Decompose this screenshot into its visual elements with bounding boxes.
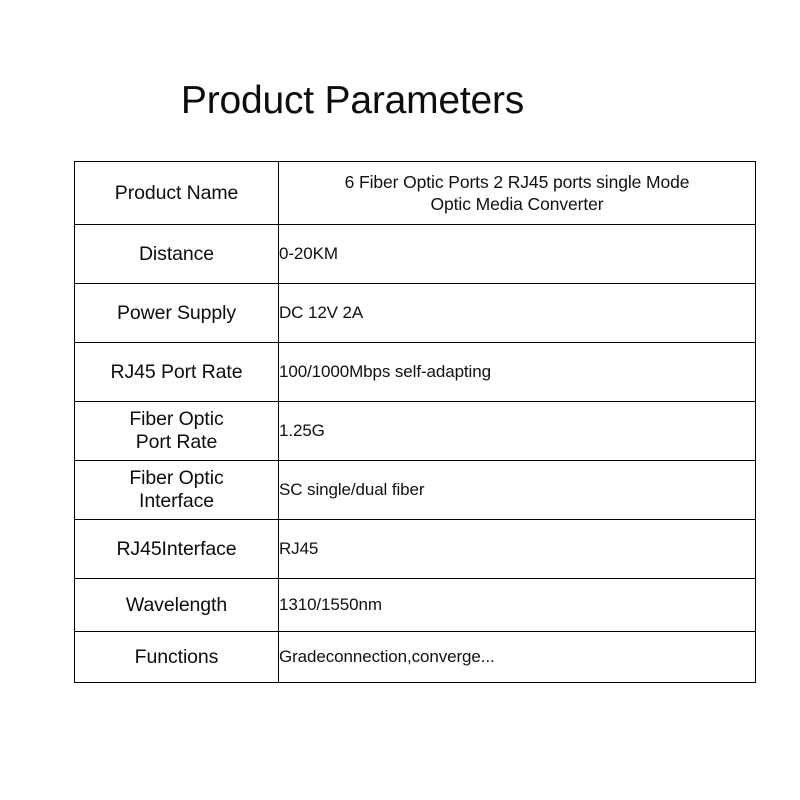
- spec-label-line: Fiber Optic: [75, 467, 278, 490]
- spec-label-cell: Wavelength: [75, 579, 279, 632]
- table-row: Fiber Optic Port Rate 1.25G: [75, 402, 756, 461]
- table-row: Distance 0-20KM: [75, 225, 756, 284]
- spec-value-line: DC 12V 2A: [279, 302, 755, 324]
- spec-label-line: Port Rate: [75, 431, 278, 454]
- spec-label-cell: Fiber Optic Interface: [75, 461, 279, 520]
- spec-value-cell: SC single/dual fiber: [279, 461, 756, 520]
- spec-value-line: SC single/dual fiber: [279, 479, 755, 501]
- spec-label-line: Wavelength: [75, 594, 278, 617]
- table-row: Wavelength 1310/1550nm: [75, 579, 756, 632]
- spec-value-line: 1.25G: [279, 420, 755, 442]
- spec-label-line: RJ45Interface: [75, 538, 278, 561]
- spec-value-cell: 0-20KM: [279, 225, 756, 284]
- table-row: RJ45Interface RJ45: [75, 520, 756, 579]
- spec-value-line: 1310/1550nm: [279, 594, 755, 616]
- table-row: RJ45 Port Rate 100/1000Mbps self-adaptin…: [75, 343, 756, 402]
- spec-value-line: 100/1000Mbps self-adapting: [279, 361, 755, 383]
- spec-label-cell: Power Supply: [75, 284, 279, 343]
- spec-label-cell: Product Name: [75, 162, 279, 225]
- spec-value-cell: 1310/1550nm: [279, 579, 756, 632]
- spec-value-cell: RJ45: [279, 520, 756, 579]
- spec-label-line: Distance: [75, 243, 278, 266]
- spec-label-line: Product Name: [75, 182, 278, 205]
- spec-value-cell: 100/1000Mbps self-adapting: [279, 343, 756, 402]
- spec-value-cell: 6 Fiber Optic Ports 2 RJ45 ports single …: [279, 162, 756, 225]
- product-parameters-page: Product Parameters Product Name 6 Fiber …: [0, 0, 800, 800]
- table-row: Product Name 6 Fiber Optic Ports 2 RJ45 …: [75, 162, 756, 225]
- spec-value-line: Optic Media Converter: [293, 193, 741, 215]
- spec-label-line: Interface: [75, 490, 278, 513]
- spec-value-cell: DC 12V 2A: [279, 284, 756, 343]
- spec-label-cell: RJ45 Port Rate: [75, 343, 279, 402]
- spec-value-cell: Gradeconnection,converge...: [279, 632, 756, 683]
- spec-label-line: Fiber Optic: [75, 408, 278, 431]
- spec-value-line: 0-20KM: [279, 243, 755, 265]
- product-parameters-table: Product Name 6 Fiber Optic Ports 2 RJ45 …: [74, 161, 756, 683]
- spec-value-line: 6 Fiber Optic Ports 2 RJ45 ports single …: [293, 171, 741, 193]
- spec-label-cell: Fiber Optic Port Rate: [75, 402, 279, 461]
- spec-label-cell: Functions: [75, 632, 279, 683]
- spec-label-line: RJ45 Port Rate: [75, 361, 278, 384]
- spec-label-cell: Distance: [75, 225, 279, 284]
- spec-label-line: Functions: [75, 646, 278, 669]
- spec-value-line: Gradeconnection,converge...: [279, 646, 755, 668]
- spec-label-cell: RJ45Interface: [75, 520, 279, 579]
- table-row: Fiber Optic Interface SC single/dual fib…: [75, 461, 756, 520]
- table-row: Functions Gradeconnection,converge...: [75, 632, 756, 683]
- spec-table-body: Product Name 6 Fiber Optic Ports 2 RJ45 …: [75, 162, 756, 683]
- spec-label-line: Power Supply: [75, 302, 278, 325]
- table-row: Power Supply DC 12V 2A: [75, 284, 756, 343]
- spec-value-line: RJ45: [279, 538, 755, 560]
- spec-value-cell: 1.25G: [279, 402, 756, 461]
- page-title: Product Parameters: [0, 80, 705, 123]
- spec-table-container: Product Name 6 Fiber Optic Ports 2 RJ45 …: [74, 161, 725, 683]
